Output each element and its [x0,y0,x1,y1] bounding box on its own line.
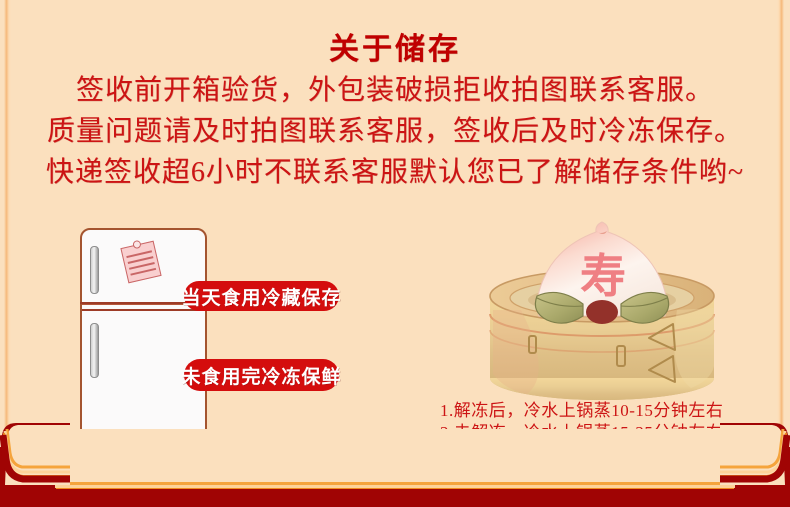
page-title: 关于储存 [0,24,790,68]
notice-line-1: 签收前开箱验货，外包装破损拒收拍图联系客服。 [0,70,790,111]
steamer-svg: 寿 [465,218,740,403]
bottom-left-corner-flourish [0,423,70,485]
bottom-right-corner-flourish [720,423,790,485]
notice-block: 签收前开箱验货，外包装破损拒收拍图联系客服。 质量问题请及时拍图联系客服，签收后… [0,70,790,193]
bottom-panel-fill [54,429,736,485]
fridge-handle-top [90,246,99,294]
instruction-line-1: 1.解冻后，冷水上锅蒸10-15分钟左右 [440,400,723,422]
notice-line-3: 快递签收超6小时不联系客服默认您已了解储存条件哟~ [0,152,790,193]
bottom-decorative-panel [0,429,790,485]
storage-info-banner: 关于储存 签收前开箱验货，外包装破损拒收拍图联系客服。 质量问题请及时拍图联系客… [0,0,790,507]
fridge-handle-bottom [90,323,99,378]
badge-freeze-leftover: 未食用完冷冻保鲜 [184,359,339,391]
steamer-illustration: 寿 [465,218,740,403]
refrigerator-icon [80,228,207,446]
bun-character: 寿 [580,251,626,302]
notice-line-2: 质量问题请及时拍图联系客服，签收后及时冷冻保存。 [0,111,790,152]
badge-refrigerate-same-day: 当天食用冷藏保存 [184,281,339,311]
